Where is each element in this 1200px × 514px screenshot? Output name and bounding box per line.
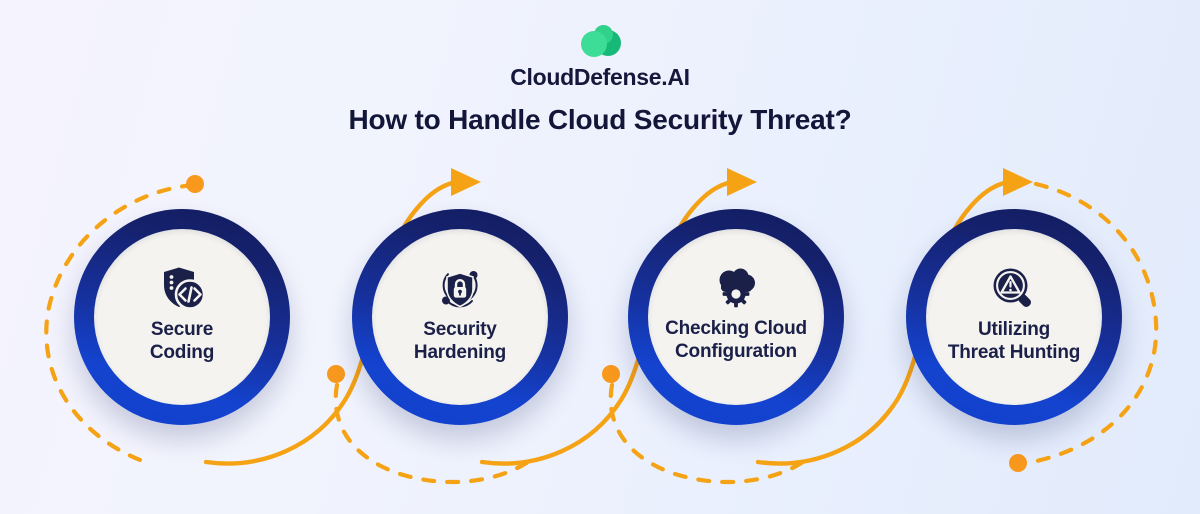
node-label: Secure Coding [142, 319, 222, 363]
step-node-checking-cloud-configuration[interactable]: Checking Cloud Configuration [628, 209, 844, 425]
node-label-line1: Secure [150, 319, 214, 341]
arc-dot-1 [186, 175, 204, 193]
arrowhead-1 [451, 168, 481, 196]
node-label-line1: Security [414, 319, 506, 341]
node-label-line1: Utilizing [948, 319, 1080, 341]
node-face: Security Hardening [372, 229, 548, 405]
node-face: Secure Coding [94, 229, 270, 405]
arc-dot-3 [602, 365, 620, 383]
node-label: Security Hardening [406, 319, 514, 363]
arrowhead-3 [1003, 168, 1033, 196]
arc-dot-2 [327, 365, 345, 383]
cloud-gear-icon [712, 271, 760, 318]
node-face: Utilizing Threat Hunting [926, 229, 1102, 405]
step-node-utilizing-threat-hunting[interactable]: Utilizing Threat Hunting [906, 209, 1122, 425]
arc-dot-4 [1009, 454, 1027, 472]
node-label-line2: Threat Hunting [948, 342, 1080, 364]
shield-code-icon [159, 270, 205, 319]
shield-lock-orbit-icon [437, 270, 483, 319]
step-node-security-hardening[interactable]: Security Hardening [352, 209, 568, 425]
step-node-secure-coding[interactable]: Secure Coding [74, 209, 290, 425]
node-label-line2: Configuration [665, 341, 807, 363]
arrowhead-2 [727, 168, 757, 196]
node-face: Checking Cloud Configuration [648, 229, 824, 405]
infographic-canvas: CloudDefense.AI How to Handle Cloud Secu… [0, 0, 1200, 514]
node-label-line1: Checking Cloud [665, 318, 807, 340]
node-label: Checking Cloud Configuration [657, 318, 815, 362]
node-label-line2: Coding [150, 342, 214, 364]
magnifier-warning-icon [991, 270, 1037, 319]
node-label: Utilizing Threat Hunting [940, 319, 1088, 363]
node-label-line2: Hardening [414, 342, 506, 364]
